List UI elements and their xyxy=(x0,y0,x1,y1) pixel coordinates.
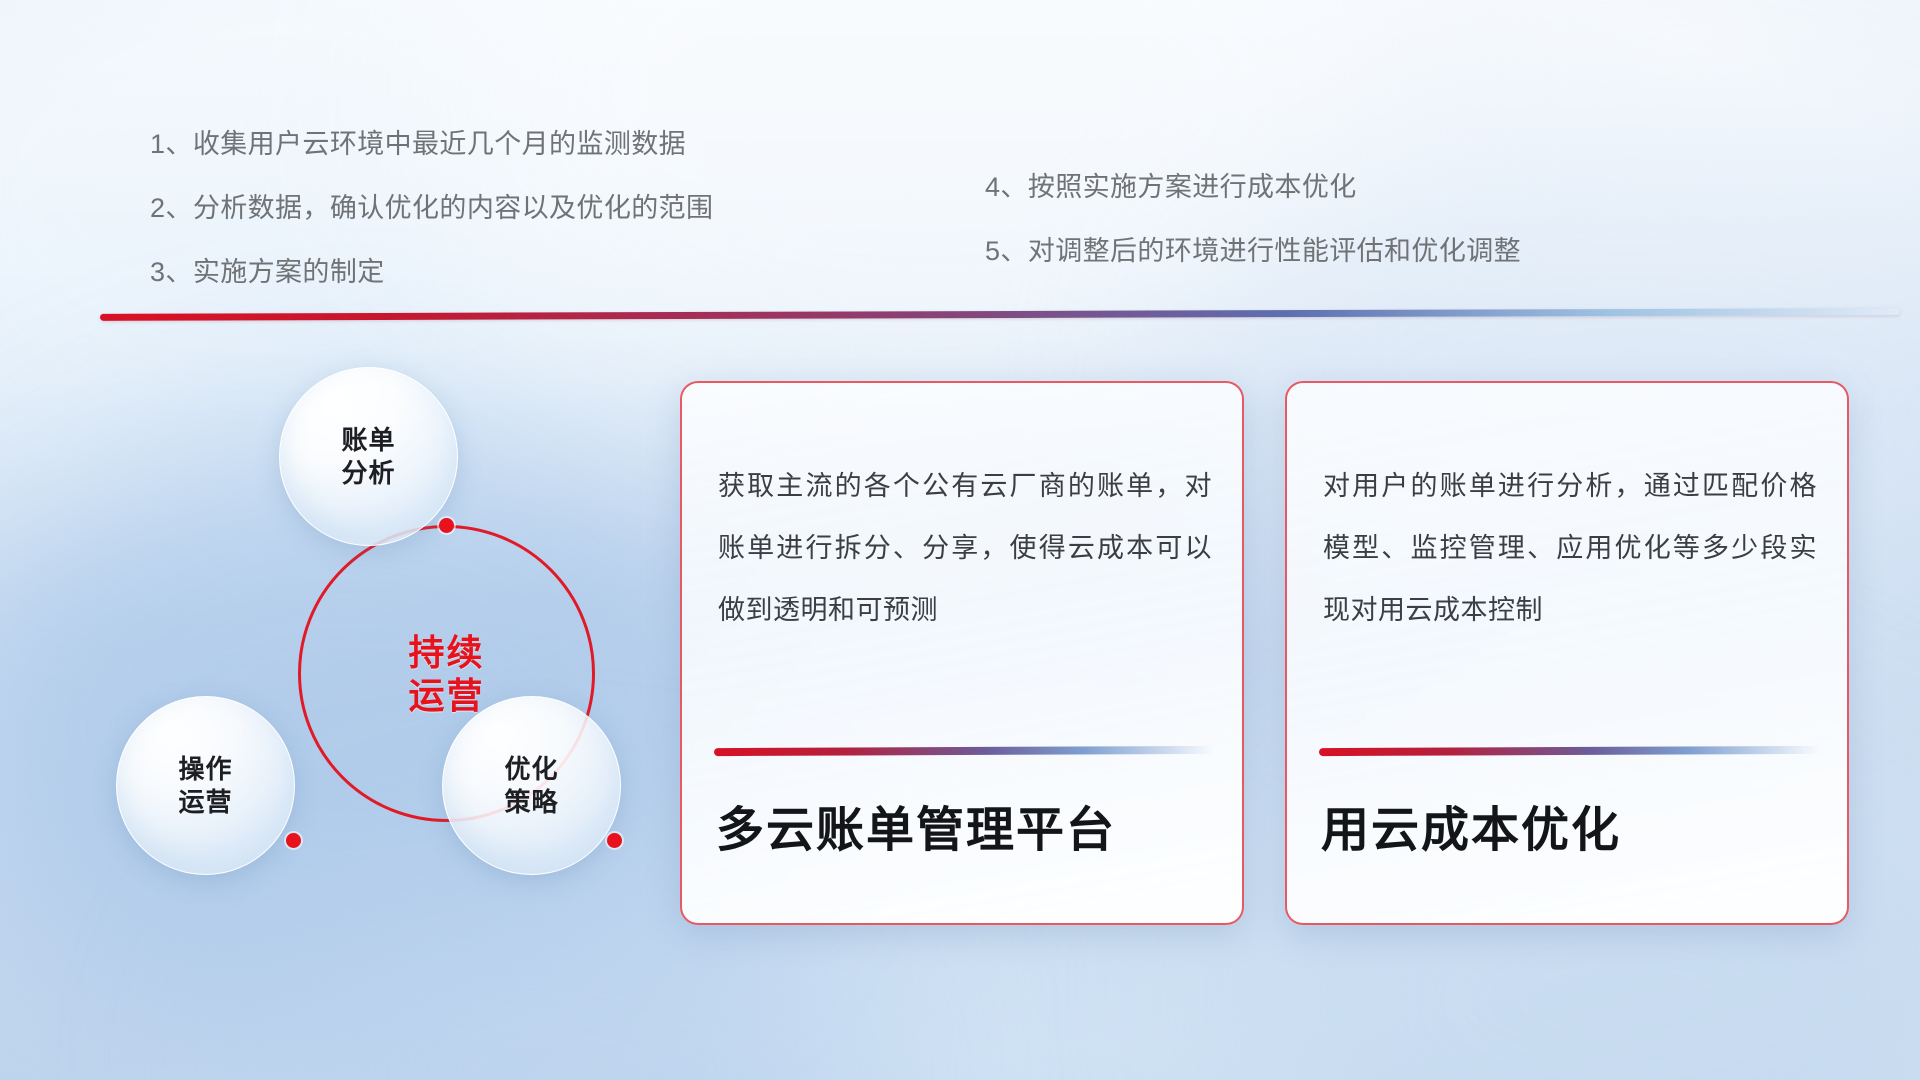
card-title: 多云账单管理平台 xyxy=(716,801,1218,861)
connector-dot-bottom-right-icon xyxy=(607,833,622,848)
card-body-text: 获取主流的各个公有云厂商的账单，对账单进行拆分、分享，使得云成本可以做到透明和可… xyxy=(718,455,1212,641)
node-label-line-1: 优化 xyxy=(504,753,558,786)
diagram-center-line-2: 运营 xyxy=(408,674,484,717)
node-label-line-1: 操作 xyxy=(178,753,232,786)
bullet-item-5: 5、对调整后的环境进行性能评估和优化调整 xyxy=(985,219,1521,283)
node-label-line-2: 策略 xyxy=(504,786,558,819)
diagram-center-line-1: 持续 xyxy=(408,631,484,674)
bullet-item-1: 1、收集用户云环境中最近几个月的监测数据 xyxy=(150,112,713,176)
diagram-node-operations[interactable]: 操作 运营 xyxy=(116,696,295,875)
connector-dot-top-icon xyxy=(439,518,454,533)
bullet-item-3: 3、实施方案的制定 xyxy=(150,240,713,304)
diagram-node-optimization-strategy[interactable]: 优化 策略 xyxy=(442,696,621,875)
feature-card-multicloud-billing[interactable]: 获取主流的各个公有云厂商的账单，对账单进行拆分、分享，使得云成本可以做到透明和可… xyxy=(680,381,1244,925)
bullet-column-right: 4、按照实施方案进行成本优化 5、对调整后的环境进行性能评估和优化调整 xyxy=(985,155,1521,283)
bullet-item-2: 2、分析数据，确认优化的内容以及优化的范围 xyxy=(150,176,713,240)
cycle-diagram: 持续 运营 账单 分析 操作 运营 优化 策略 xyxy=(100,340,620,940)
card-accent-rule xyxy=(1319,746,1819,756)
node-label-line-2: 运营 xyxy=(178,786,232,819)
connector-dot-bottom-left-icon xyxy=(286,833,301,848)
card-title: 用云成本优化 xyxy=(1321,801,1823,861)
feature-card-cost-optimization[interactable]: 对用户的账单进行分析，通过匹配价格模型、监控管理、应用优化等多少段实现对用云成本… xyxy=(1285,381,1849,925)
bullet-column-left: 1、收集用户云环境中最近几个月的监测数据 2、分析数据，确认优化的内容以及优化的… xyxy=(150,112,713,304)
bullet-item-4: 4、按照实施方案进行成本优化 xyxy=(985,155,1521,219)
card-body-text: 对用户的账单进行分析，通过匹配价格模型、监控管理、应用优化等多少段实现对用云成本… xyxy=(1323,455,1817,641)
card-accent-rule xyxy=(714,746,1214,756)
diagram-node-bill-analysis[interactable]: 账单 分析 xyxy=(279,367,458,546)
node-label-line-2: 分析 xyxy=(341,457,395,490)
node-label-line-1: 账单 xyxy=(341,424,395,457)
